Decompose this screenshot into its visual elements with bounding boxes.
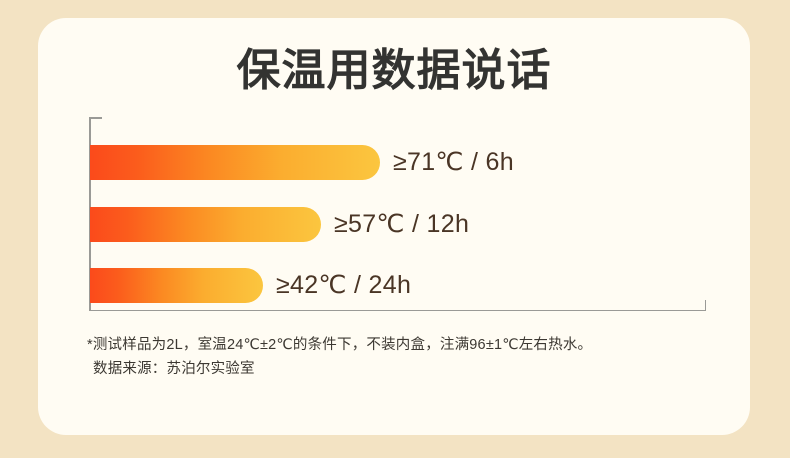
heat-retention-bar-chart: ≥71℃ / 6h ≥57℃ / 12h ≥42℃ / 24h [89, 117, 706, 311]
bar-row: ≥57℃ / 12h [90, 207, 469, 242]
bar-label-6h: ≥71℃ / 6h [393, 150, 514, 175]
footnote-line-data-source: 数据来源：苏泊尔实验室 [87, 357, 727, 381]
bar-12h [90, 207, 321, 242]
footnote-line-test-conditions: *测试样品为2L，室温24℃±2℃的条件下，不装内盒，注满96±1℃左右热水。 [87, 333, 727, 357]
bar-24h [90, 268, 263, 303]
content-card: 保温用数据说话 ≥71℃ / 6h ≥57℃ / 12h ≥42℃ / 24h … [38, 18, 750, 435]
infographic-page: 保温用数据说话 ≥71℃ / 6h ≥57℃ / 12h ≥42℃ / 24h … [0, 0, 790, 458]
bar-label-24h: ≥42℃ / 24h [276, 273, 411, 298]
bar-label-12h: ≥57℃ / 12h [334, 212, 469, 237]
x-axis-right-tick [705, 300, 707, 311]
bar-row: ≥42℃ / 24h [90, 268, 411, 303]
y-axis-top-tick [89, 117, 102, 119]
page-title: 保温用数据说话 [38, 45, 750, 97]
bar-row: ≥71℃ / 6h [90, 145, 514, 180]
x-axis-line [89, 310, 706, 312]
footnote: *测试样品为2L，室温24℃±2℃的条件下，不装内盒，注满96±1℃左右热水。 … [87, 333, 727, 381]
bar-6h [90, 145, 380, 180]
